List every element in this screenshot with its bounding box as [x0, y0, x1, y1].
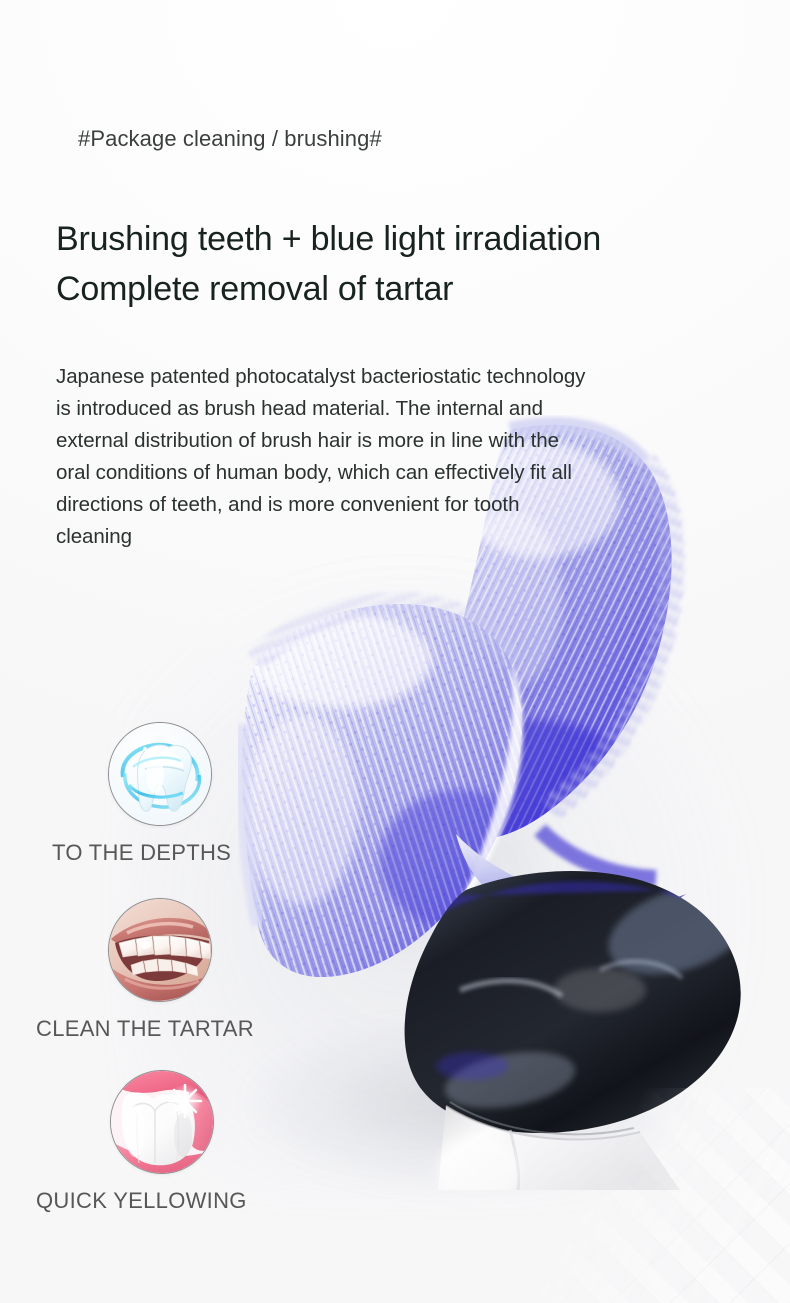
handle-quilted-texture [540, 1088, 790, 1303]
white-tooth-pink-gum-sparkle-icon [110, 1070, 214, 1174]
product-marketing-page: #Package cleaning / brushing# Brushing t… [0, 0, 790, 1303]
page-title: Brushing teeth + blue light irradiation … [56, 214, 601, 314]
tagline: #Package cleaning / brushing# [78, 126, 382, 152]
feature-label: TO THE DEPTHS [52, 840, 231, 866]
feature-label: QUICK YELLOWING [36, 1188, 247, 1214]
tooth-with-cyan-swirl-icon [108, 722, 212, 826]
smiling-mouth-teeth-icon [108, 898, 212, 1002]
description-paragraph: Japanese patented photocatalyst bacterio… [56, 361, 746, 553]
feature-label: CLEAN THE TARTAR [36, 1016, 254, 1042]
